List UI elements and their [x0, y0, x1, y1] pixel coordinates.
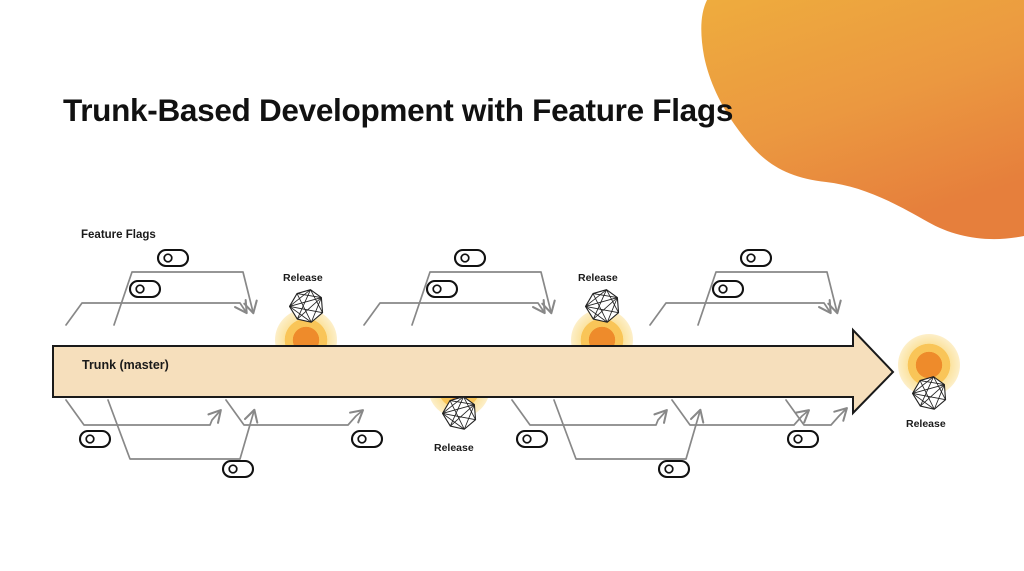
- branch-above-g1-upper: [114, 272, 253, 325]
- release-label-3: Release: [578, 272, 618, 284]
- branch-above-g2-lower: [364, 303, 544, 325]
- feature-flag-toggle-below-g1-upper[interactable]: [80, 431, 110, 447]
- feature-flag-toggle-below-g1-lower[interactable]: [223, 461, 253, 477]
- feature-flag-toggle-above-g3-upper[interactable]: [741, 250, 771, 266]
- branch-below-g4-upper: [672, 400, 808, 425]
- release-label-1: Release: [283, 272, 323, 284]
- branch-below-g1-upper: [66, 400, 220, 425]
- page-title: Trunk-Based Development with Feature Fla…: [63, 92, 733, 129]
- feature-flag-toggle-below-g4-upper[interactable]: [788, 431, 818, 447]
- slide-canvas: Trunk-Based Development with Feature Fla…: [0, 0, 1024, 571]
- feature-flag-toggle-above-g2-lower[interactable]: [427, 281, 457, 297]
- branch-above-g3-lower: [650, 303, 830, 325]
- feature-flag-toggle-below-g3-lower[interactable]: [659, 461, 689, 477]
- branch-above-g3-upper: [698, 272, 837, 325]
- release-label-4: Release: [906, 418, 946, 430]
- branch-below-g5-upper: [786, 400, 846, 425]
- feature-flag-toggle-above-g3-lower[interactable]: [713, 281, 743, 297]
- feature-flags-label: Feature Flags: [81, 229, 156, 241]
- feature-flag-toggle-above-g1-upper[interactable]: [158, 250, 188, 266]
- branch-below-g3-upper: [512, 400, 666, 425]
- feature-flag-toggle-below-g2-upper[interactable]: [352, 431, 382, 447]
- branch-above-g2-upper: [412, 272, 551, 325]
- release-label-2: Release: [434, 442, 474, 454]
- trunk-based-development-diagram: [0, 0, 1024, 571]
- feature-flag-toggle-above-g2-upper[interactable]: [455, 250, 485, 266]
- feature-flag-toggle-below-g3-upper[interactable]: [517, 431, 547, 447]
- trunk-master-label: Trunk (master): [82, 358, 169, 372]
- branch-above-g1-lower: [66, 303, 246, 325]
- branch-below-g2-upper: [226, 400, 362, 425]
- feature-flag-toggle-above-g1-lower[interactable]: [130, 281, 160, 297]
